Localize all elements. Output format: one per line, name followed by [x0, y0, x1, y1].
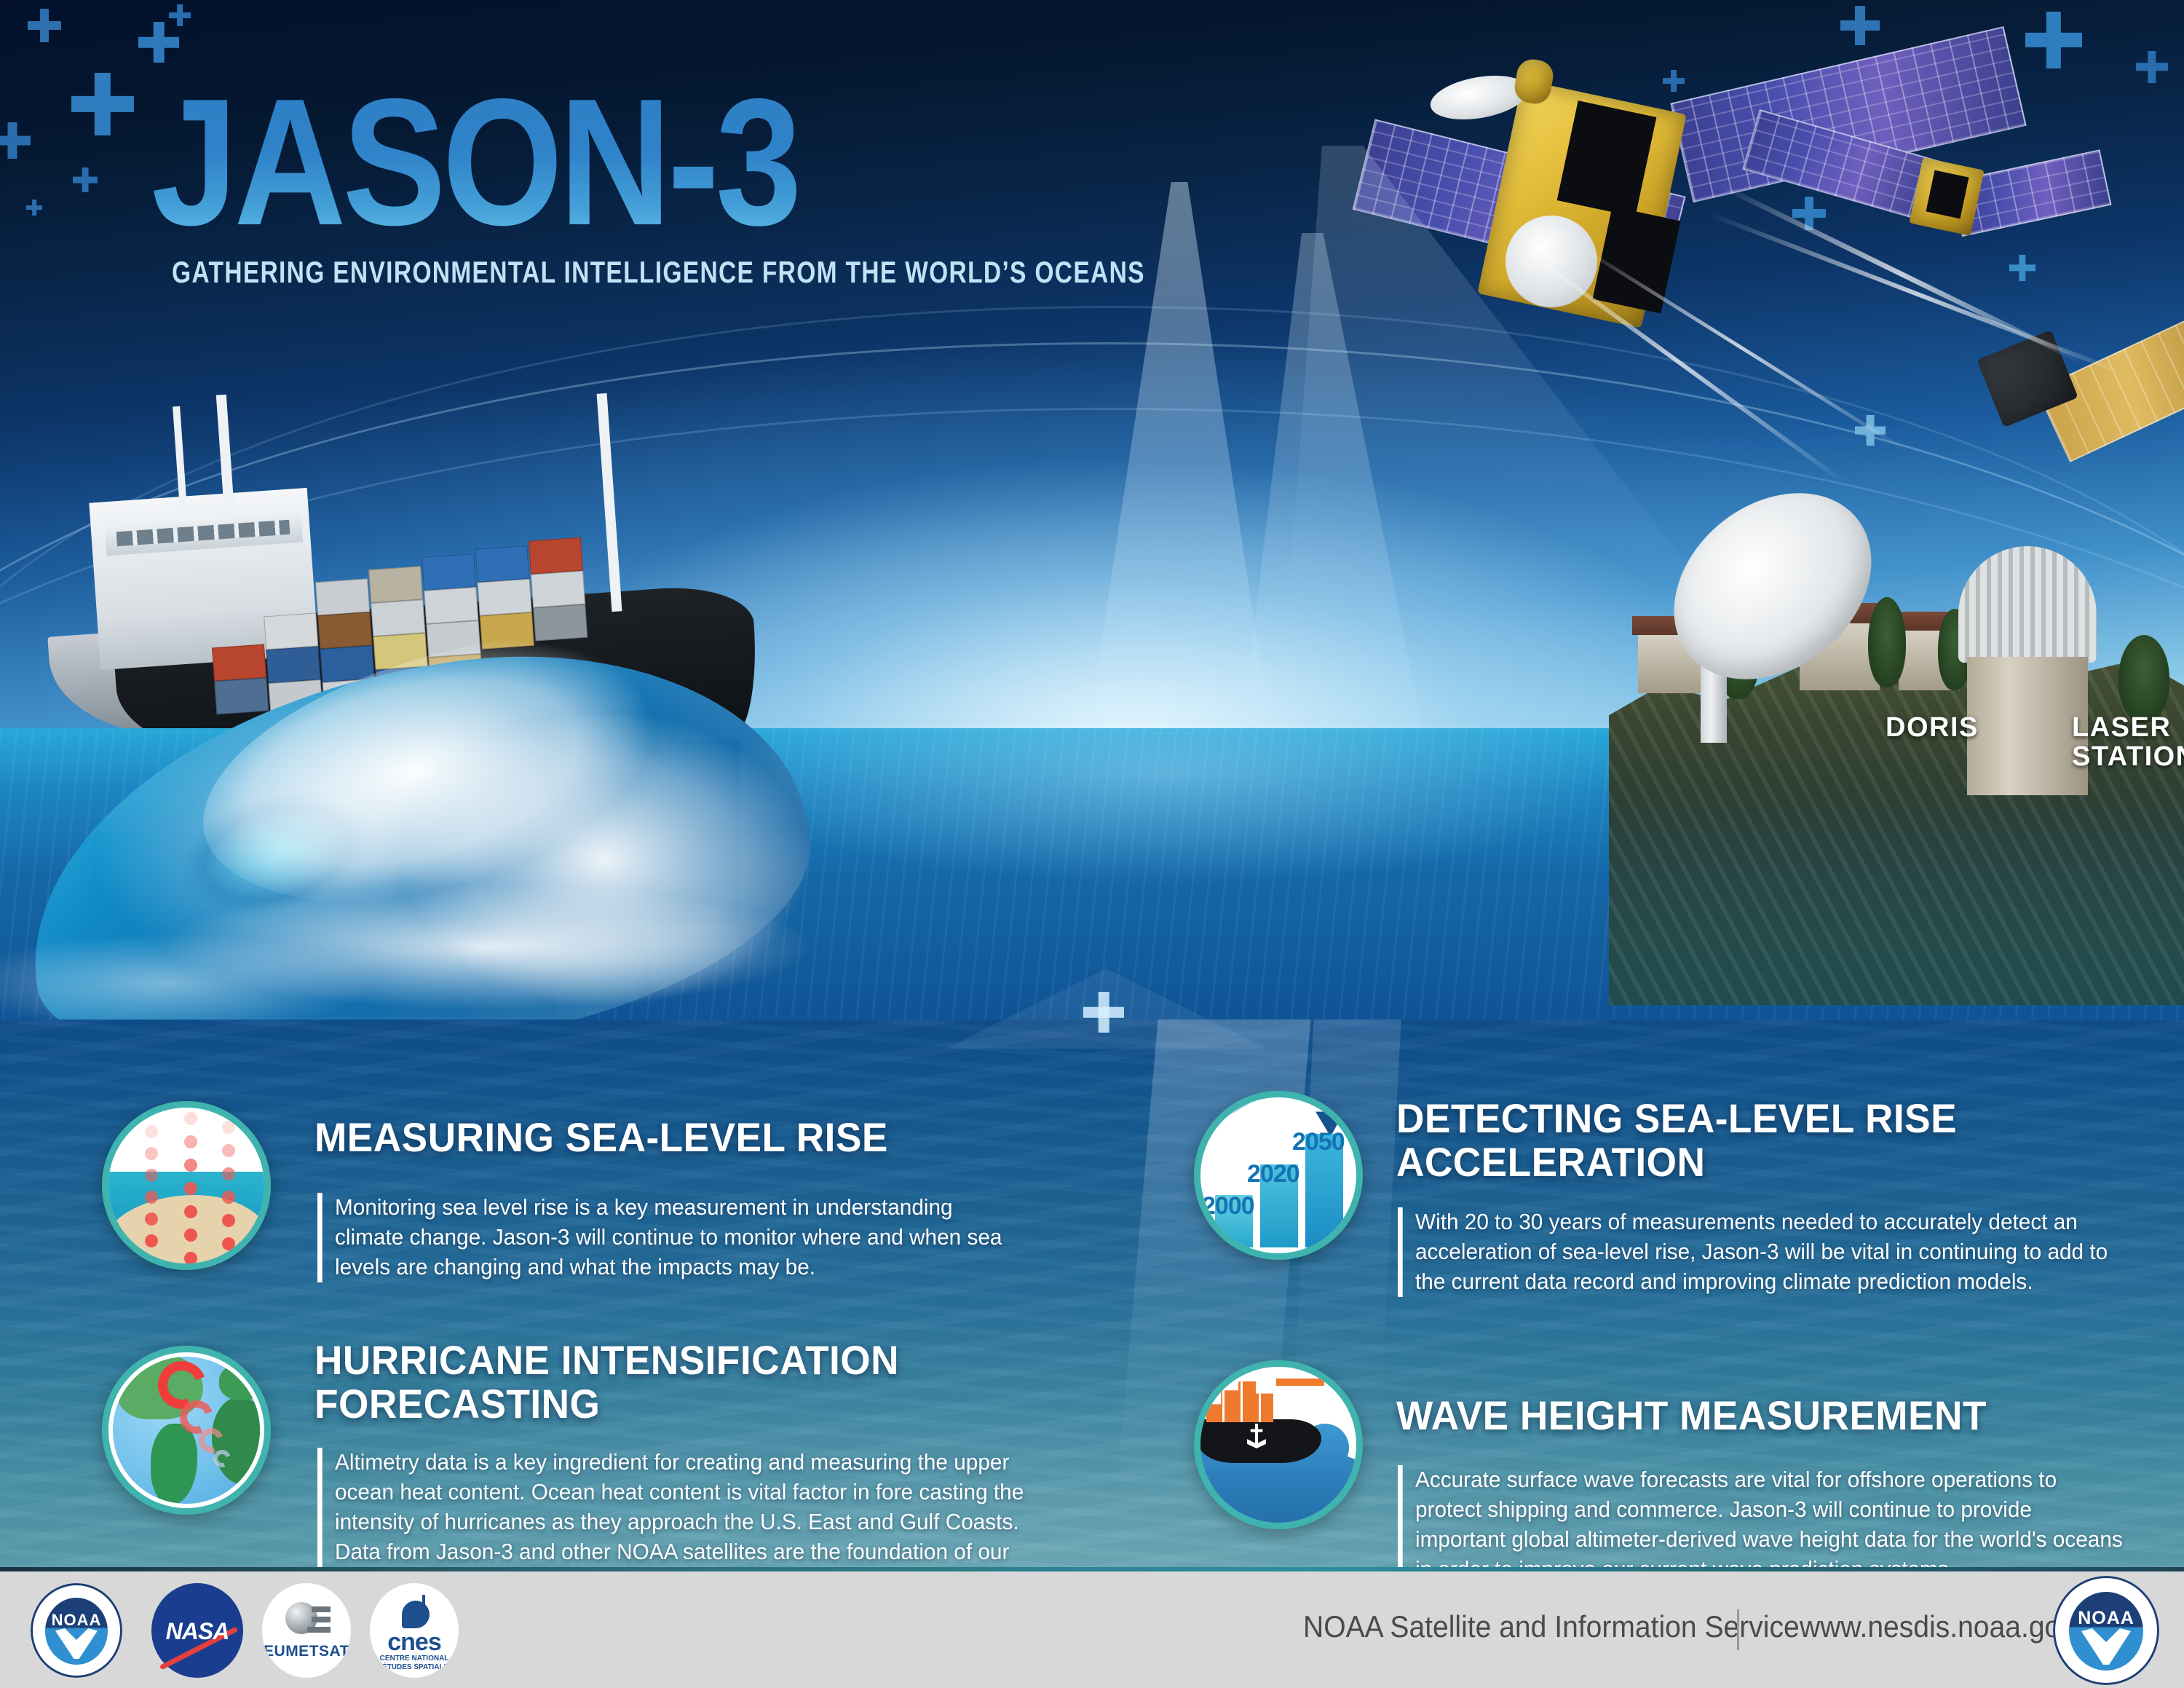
- info-block-title: WAVE HEIGHT MEASUREMENT: [1396, 1394, 2102, 1437]
- info-block-title: DETECTING SEA-LEVEL RISE ACCELERATION: [1396, 1097, 2019, 1184]
- globe-hurricane-icon: [102, 1346, 271, 1515]
- plus-decoration: [73, 167, 98, 192]
- eumetsat-bar-icon: [312, 1617, 331, 1622]
- info-section: MEASURING SEA-LEVEL RISE Monitoring sea …: [0, 1063, 2184, 1566]
- footer-noaa-seal[interactable]: NOAA: [2053, 1576, 2159, 1685]
- plus-decoration: [169, 4, 191, 26]
- info-block-measuring-sea-level-rise[interactable]: MEASURING SEA-LEVEL RISE Monitoring sea …: [0, 1063, 1092, 1311]
- noaa-wordmark: NOAA: [31, 1611, 122, 1630]
- cnes-subline-1: CENTRE NATIONAL: [370, 1655, 459, 1663]
- sea-level-gauge-icon: [102, 1101, 271, 1270]
- landmass-south-america: [151, 1424, 197, 1504]
- satellite-altimeter-dish: [1506, 216, 1597, 307]
- ship-mast: [216, 395, 234, 505]
- tree: [2118, 635, 2169, 722]
- ship-hull-icon: [1198, 1419, 1321, 1463]
- doris-antenna: [1667, 502, 1878, 670]
- plus-decoration: [2136, 51, 2168, 83]
- cargo-ship-wave-icon: [1194, 1360, 1363, 1529]
- plus-decoration: [26, 200, 42, 216]
- footer-agency-text: NOAA Satellite and Information Service: [1303, 1609, 1800, 1644]
- info-block-title: HURRICANE INTENSIFICATION FORECASTING: [314, 1338, 909, 1426]
- bar-label-2020: 2020: [1247, 1160, 1299, 1188]
- info-block-detecting-sea-level-rise-acceleration[interactable]: 2000 2020 2050 DETECTING SEA-LEVEL RISE …: [1092, 1063, 2184, 1311]
- eumetsat-wordmark: EUMETSAT: [262, 1643, 351, 1660]
- page-subtitle: GATHERING ENVIRONMENTAL INTELLIGENCE FRO…: [172, 255, 1145, 290]
- plus-decoration: [28, 9, 61, 42]
- bar-label-2000: 2000: [1202, 1192, 1254, 1220]
- footer-url[interactable]: www.nesdis.noaa.gov: [1800, 1609, 2075, 1644]
- waterline-plus-marker: [1083, 992, 1124, 1033]
- laser-station-label-line2: STATION: [2072, 743, 2184, 772]
- ship-mast: [173, 406, 187, 508]
- bar-label-2050: 2050: [1292, 1128, 1345, 1156]
- info-block-body: With 20 to 30 years of measurements need…: [1398, 1207, 2118, 1297]
- breaking-wave: [0, 626, 946, 1078]
- info-block-body: Monitoring sea level rise is a key measu…: [317, 1193, 1016, 1282]
- page-title: JASON-3: [151, 79, 1215, 245]
- logo-cnes[interactable]: cnes CENTRE NATIONAL D’ÉTUDES SPATIALES: [370, 1583, 459, 1678]
- cnes-subline-2: D’ÉTUDES SPATIALES: [370, 1663, 459, 1671]
- trend-arrow: [1210, 1091, 1321, 1124]
- ship-crane-icon: [1276, 1379, 1324, 1386]
- eumetsat-bar-icon: [312, 1606, 331, 1612]
- secondary-satellite: [1787, 138, 2071, 306]
- plus-decoration: [1840, 6, 1880, 45]
- logo-eumetsat[interactable]: EUMETSAT: [262, 1583, 351, 1678]
- plus-decoration: [1855, 415, 1886, 446]
- nasa-wordmark: NASA: [151, 1618, 243, 1645]
- globe-graphic: [113, 1357, 260, 1504]
- doris-label: DORIS: [1886, 714, 1979, 743]
- infographic-poster: JASON-3 GATHERING ENVIRONMENTAL INTELLIG…: [0, 0, 2184, 1688]
- laser-station-dome: [1958, 546, 2097, 663]
- noaa-wordmark: NOAA: [2053, 1608, 2159, 1629]
- footer-divider: [1737, 1609, 1739, 1650]
- laser-station-label-line1: LASER: [2072, 714, 2184, 743]
- info-block-hurricane-intensification-forecasting[interactable]: HURRICANE INTENSIFICATION FORECASTING Al…: [0, 1333, 1092, 1580]
- rising-bar-chart-icon: 2000 2020 2050: [1194, 1091, 1363, 1260]
- plus-decoration: [71, 73, 134, 135]
- laser-station-label: LASER STATION: [2072, 714, 2184, 772]
- plus-decoration: [138, 22, 179, 63]
- cnes-wordmark: cnes: [370, 1628, 459, 1657]
- logo-nasa[interactable]: NASA: [151, 1583, 243, 1678]
- landmass-europe: [219, 1364, 260, 1400]
- info-block-title: MEASURING SEA-LEVEL RISE: [314, 1116, 1034, 1159]
- plus-decoration: [2025, 12, 2082, 68]
- cnes-antenna-icon: [422, 1595, 425, 1608]
- plus-decoration: [0, 122, 31, 159]
- eumetsat-bar-icon: [307, 1627, 331, 1633]
- footer-bar: NOAA NASA EUMETSAT: [0, 1571, 2184, 1688]
- info-block-wave-height-measurement[interactable]: WAVE HEIGHT MEASUREMENT Accurate surface…: [1092, 1333, 2184, 1580]
- title-block: JASON-3 GATHERING ENVIRONMENTAL INTELLIG…: [151, 79, 1388, 290]
- laser-station-tower: [1967, 657, 2088, 795]
- logo-noaa[interactable]: NOAA: [31, 1583, 122, 1678]
- cnes-mark-icon: [402, 1601, 430, 1628]
